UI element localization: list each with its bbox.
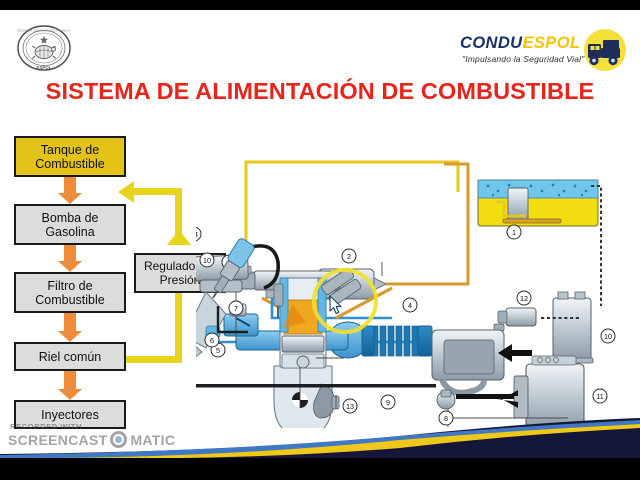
flow-box-filtro-de-combustible[interactable]: Filtro de Combustible — [14, 272, 126, 313]
conduespol-wordmark-espol: ESPOL — [523, 34, 581, 52]
flow-box-tanque-de-combustible[interactable]: Tanque de Combustible — [14, 136, 126, 177]
conduespol-logo: CONDUESPOL "Impulsando la Seguridad Vial… — [460, 28, 632, 76]
diagram-baseline — [196, 384, 436, 388]
svg-text:11: 11 — [596, 392, 603, 401]
return-line-vertical-lower — [175, 293, 182, 359]
svg-text:ESPOL: ESPOL — [37, 65, 52, 70]
conduespol-wordmark: CONDUESPOL — [460, 34, 580, 53]
video-frame: ESPOL ESCUELA SUPERIOR POLITECNICA CONDU… — [0, 0, 640, 480]
diagram-air-cleaner — [432, 330, 504, 393]
diagram-canister — [551, 292, 593, 363]
watermark-recorded-with: RECORDED WITH — [10, 422, 82, 431]
screencast-o-matic-watermark: RECORDED WITH SCREENCAST MATIC — [8, 422, 168, 452]
conduespol-tagline: "Impulsando la Seguridad Vial" — [462, 54, 584, 64]
mouse-cursor — [329, 295, 343, 315]
watermark-o-icon — [110, 431, 127, 448]
return-line-top-horizontal — [132, 188, 182, 195]
letterbox-top — [0, 0, 640, 10]
svg-text:13: 13 — [346, 402, 354, 411]
return-line-riel-horizontal — [124, 356, 182, 363]
highlight-circle — [312, 268, 378, 334]
flow-arrow-bomba-to-filtro — [64, 245, 76, 262]
svg-text:2: 2 — [347, 252, 351, 261]
svg-text:10: 10 — [203, 256, 211, 265]
svg-text:9: 9 — [386, 398, 390, 407]
truck-icon — [574, 28, 632, 74]
svg-text:5: 5 — [216, 346, 220, 355]
diagram-spark-plug-detail: 10 — [196, 232, 266, 342]
watermark-brand: SCREENCAST MATIC — [8, 431, 175, 448]
letterbox-bottom — [0, 458, 640, 480]
watermark-word-screencast: SCREENCAST — [8, 432, 107, 448]
svg-text:10: 10 — [604, 332, 612, 341]
diagram-fuel-tank — [478, 180, 598, 226]
presentation-slide: ESPOL ESCUELA SUPERIOR POLITECNICA CONDU… — [0, 10, 640, 458]
return-arrow-into-regulador — [167, 230, 191, 245]
espol-seal-logo: ESPOL ESCUELA SUPERIOR POLITECNICA — [14, 24, 74, 72]
flow-arrow-filtro-to-riel — [64, 313, 76, 332]
svg-text:12: 12 — [520, 294, 528, 303]
svg-text:4: 4 — [408, 301, 412, 310]
diagram-purge-valve — [494, 308, 536, 331]
flow-box-riel-comun[interactable]: Riel común — [14, 342, 126, 371]
watermark-word-matic: MATIC — [130, 432, 175, 448]
flow-box-bomba-de-gasolina[interactable]: Bomba de Gasolina — [14, 204, 126, 245]
return-arrow-into-tanque — [118, 181, 134, 203]
flow-arrow-tanque-to-bomba — [64, 177, 76, 194]
page-title: SISTEMA DE ALIMENTACIÓN DE COMBUSTIBLE — [0, 78, 640, 105]
svg-text:1: 1 — [512, 228, 516, 237]
flow-arrow-riel-to-inyectores — [64, 371, 76, 390]
conduespol-wordmark-condu: CONDU — [460, 34, 523, 52]
svg-text:ESCUELA SUPERIOR POLITECNICA: ESCUELA SUPERIOR POLITECNICA — [18, 29, 72, 33]
